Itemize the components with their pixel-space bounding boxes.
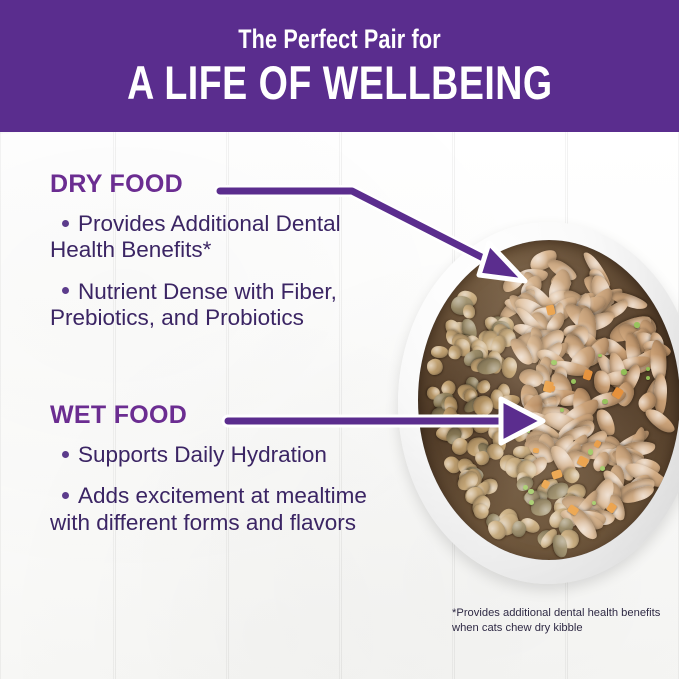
kibble-piece [484, 441, 506, 462]
kibble-piece [490, 321, 513, 347]
wet-food-piece [533, 338, 573, 374]
kibble-piece [471, 343, 493, 368]
wet-food-piece [496, 286, 539, 323]
kibble-piece [469, 493, 494, 519]
pea-bit [600, 466, 605, 471]
kibble-piece [427, 386, 441, 400]
food-layer [418, 240, 679, 560]
kibble-piece [453, 421, 476, 443]
wet-food-piece [560, 491, 605, 522]
bullet-dot [62, 220, 69, 227]
wet-food-piece [599, 481, 623, 512]
wet-food-piece [558, 423, 593, 445]
wet-food-piece [507, 291, 538, 326]
carrot-bit [541, 480, 550, 490]
kibble-piece [461, 387, 478, 405]
kibble-piece [560, 465, 581, 485]
list-item: Provides Additional Dental Health Benefi… [50, 211, 395, 264]
pea-bit [646, 376, 650, 380]
kibble-piece [478, 476, 500, 497]
kibble-piece [449, 331, 473, 354]
kibble-piece [468, 410, 495, 437]
wet-food-piece [569, 293, 607, 317]
kibble-piece [490, 389, 503, 409]
wet-food-piece [535, 389, 580, 407]
wet-food-piece [586, 388, 628, 412]
kibble-piece [490, 316, 506, 333]
wet-food-piece [577, 308, 596, 352]
kibble-piece [466, 436, 491, 458]
wet-food-piece [534, 346, 568, 373]
wet-food-piece [503, 295, 537, 318]
kibble-piece [457, 468, 477, 488]
kibble-piece [551, 501, 572, 524]
wet-food-piece [610, 446, 657, 479]
wet-food-piece [654, 374, 668, 416]
bowl-interior [418, 240, 679, 560]
wet-food-piece [587, 286, 625, 311]
wet-food-piece [612, 443, 636, 483]
kibble-piece [440, 453, 463, 475]
wet-food-piece [642, 405, 678, 438]
kibble-piece [444, 328, 462, 347]
carrot-bit [551, 468, 563, 479]
wet-food-piece [574, 328, 601, 351]
dry-food-bullets: Provides Additional Dental Health Benefi… [50, 211, 395, 331]
wet-food-piece [516, 289, 548, 329]
wet-food-piece [545, 288, 575, 311]
wet-food-piece [594, 407, 618, 438]
wet-food-piece [603, 370, 640, 386]
wet-food-piece [553, 410, 598, 448]
wet-food-piece [532, 304, 567, 324]
wet-food-piece [547, 442, 582, 485]
banner-title: A LIFE OF WELLBEING [127, 58, 552, 107]
kibble-piece [441, 406, 458, 431]
dry-food-heading: DRY FOOD [50, 172, 395, 197]
carrot-bit [546, 304, 556, 315]
kibble-piece [431, 346, 449, 358]
wet-food-piece [517, 367, 545, 390]
kibble-piece [446, 417, 459, 432]
pea-bit [592, 501, 596, 505]
kibble-piece [544, 480, 571, 503]
kibble-piece [439, 379, 458, 399]
kibble-piece [512, 458, 534, 476]
wet-food-piece [522, 325, 545, 343]
wet-food-piece [606, 312, 655, 346]
wet-food-piece [606, 464, 626, 498]
kibble-piece [534, 476, 561, 499]
wet-food-piece [583, 476, 619, 522]
wet-food-piece [589, 273, 615, 317]
wet-food-piece [526, 394, 560, 424]
kibble-piece [494, 325, 519, 350]
kibble-piece [529, 497, 553, 518]
wet-food-piece [567, 488, 601, 529]
kibble-piece [450, 437, 469, 457]
banner-subtitle: The Perfect Pair for [238, 25, 440, 53]
wet-food-piece [556, 395, 603, 434]
wet-food-piece [563, 324, 586, 339]
kibble-piece [515, 470, 532, 489]
wet-food-piece [610, 428, 652, 459]
wet-food-piece [499, 268, 527, 294]
kibble-piece [472, 449, 491, 468]
wet-food-piece [608, 445, 646, 469]
wet-food-piece [537, 356, 555, 381]
kibble-piece [440, 396, 455, 413]
kibble-piece [466, 377, 479, 392]
wet-food-piece [615, 319, 653, 357]
kibble-piece [524, 490, 548, 503]
kibble-piece [449, 322, 469, 337]
wet-food-piece [534, 362, 553, 387]
dry-food-section: DRY FOOD Provides Additional Dental Heal… [50, 172, 395, 346]
wet-food-piece [530, 392, 564, 422]
kibble-piece [518, 515, 542, 536]
wet-food-piece [526, 246, 559, 274]
kibble-piece [495, 316, 515, 338]
wet-food-piece [525, 454, 551, 479]
kibble-piece [489, 333, 508, 356]
kibble-piece [462, 394, 485, 415]
wet-food-piece [592, 370, 611, 395]
wet-food-piece [513, 327, 556, 351]
kibble-piece [463, 464, 485, 483]
wet-food-piece [576, 309, 616, 336]
kibble-piece [463, 484, 485, 506]
wet-food-piece [580, 507, 604, 529]
pea-bit [527, 430, 530, 433]
wet-food-piece [601, 434, 624, 464]
kibble-piece [454, 337, 473, 358]
wet-food-piece [512, 321, 547, 344]
kibble-piece [496, 414, 522, 440]
wet-food-piece [624, 344, 666, 378]
kibble-piece [428, 406, 450, 429]
pea-bit [602, 399, 608, 405]
wet-food-piece [516, 273, 546, 305]
wet-food-piece [537, 434, 555, 462]
kibble-piece [470, 414, 490, 431]
kibble-piece [513, 446, 531, 457]
carrot-bit [593, 440, 602, 449]
wet-food-piece [620, 483, 656, 506]
kibble-piece [455, 455, 478, 479]
wet-food-piece [591, 337, 618, 358]
kibble-piece [561, 491, 581, 514]
kibble-piece [497, 329, 516, 348]
wet-food-piece [517, 268, 548, 283]
kibble-piece [485, 418, 509, 442]
wet-food-piece [518, 390, 555, 430]
wet-food-piece [507, 335, 535, 368]
wet-food-piece [568, 418, 598, 444]
wet-food-piece [648, 331, 666, 363]
kibble-piece [559, 528, 580, 549]
wet-food-piece [521, 269, 544, 302]
kibble-piece [482, 314, 503, 335]
wet-food-piece [637, 320, 654, 353]
wet-food-piece [560, 432, 591, 464]
pea-bit [621, 369, 627, 375]
list-item: Adds excitement at mealtime with differe… [50, 483, 395, 536]
pea-bit [634, 322, 639, 327]
kibble-piece [486, 350, 502, 374]
wet-food-piece [617, 354, 651, 372]
pea-bit [646, 367, 650, 371]
wet-food-piece [581, 335, 614, 370]
wet-food-piece [608, 493, 628, 522]
wet-food-piece [522, 281, 560, 319]
header-banner: The Perfect Pair for A LIFE OF WELLBEING [0, 0, 679, 132]
kibble-piece [564, 481, 588, 504]
kibble-piece [493, 408, 513, 429]
kibble-piece [458, 334, 474, 350]
wet-food-piece [512, 392, 548, 436]
wet-food-bullets: Supports Daily Hydration Adds excitement… [50, 442, 395, 536]
wet-food-piece [609, 289, 649, 312]
kibble-piece [469, 338, 490, 364]
wet-food-piece [607, 350, 630, 395]
carrot-bit [543, 380, 554, 393]
wet-food-piece [531, 326, 568, 360]
wet-food-piece [620, 441, 656, 457]
kibble-piece [454, 469, 481, 494]
kibble-piece [443, 411, 465, 431]
kibble-piece [435, 425, 459, 442]
wet-food-piece [529, 310, 551, 337]
bullet-dot [62, 451, 69, 458]
wet-food-piece [561, 332, 591, 366]
wet-food-piece [580, 271, 619, 311]
kibble-piece [447, 420, 470, 444]
kibble-piece [469, 393, 496, 420]
wet-food-piece [563, 331, 586, 359]
wet-food-piece [641, 346, 662, 371]
wet-food-piece [547, 294, 580, 321]
wet-food-piece [599, 297, 631, 323]
wet-food-piece [561, 286, 597, 320]
kibble-piece [501, 455, 527, 481]
pea-bit [571, 379, 576, 384]
list-item-text: Nutrient Dense with Fiber, Prebiotics, a… [50, 279, 337, 330]
list-item: Supports Daily Hydration [50, 442, 395, 468]
pea-bit [551, 360, 556, 365]
wet-food-piece [632, 314, 659, 341]
wet-food-piece [626, 426, 649, 463]
kibble-piece [553, 496, 577, 515]
wet-food-piece [559, 505, 605, 534]
wet-food-piece [571, 303, 597, 331]
kibble-piece [487, 353, 508, 371]
wet-food-piece [513, 304, 550, 345]
wet-food-piece [581, 249, 613, 290]
kibble-piece [498, 453, 519, 474]
kibble-piece [557, 517, 574, 537]
kibble-piece [475, 378, 493, 396]
wet-food-piece [586, 508, 616, 527]
kibble-piece [498, 394, 520, 408]
wet-food-piece [624, 471, 655, 500]
kibble-piece [463, 484, 487, 507]
kibble-piece [482, 330, 498, 350]
pea-bit [529, 500, 535, 506]
kibble-piece [464, 333, 483, 351]
kibble-piece [484, 512, 502, 531]
wet-food-piece [571, 509, 606, 529]
page-root: The Perfect Pair for A LIFE OF WELLBEING… [0, 0, 679, 679]
kibble-piece [455, 381, 481, 406]
bullet-dot [62, 287, 69, 294]
kibble-piece [495, 505, 522, 533]
carrot-bit [533, 447, 540, 453]
wet-food-piece [614, 475, 657, 504]
kibble-piece [475, 355, 502, 376]
wet-food-piece [623, 332, 643, 372]
kibble-piece [494, 510, 524, 540]
kibble-piece [461, 347, 486, 369]
bowl-rim [398, 222, 679, 584]
wet-food-piece [577, 441, 617, 460]
carrot-bit [606, 502, 617, 514]
wet-food-piece [559, 391, 589, 409]
wet-food-piece [572, 292, 595, 331]
wet-food-piece [543, 310, 569, 338]
wet-food-piece [561, 299, 596, 336]
kibble-piece [512, 425, 531, 444]
wet-food-piece [572, 387, 592, 420]
wet-food-piece [583, 271, 610, 295]
wet-food-piece [533, 406, 570, 421]
kibble-piece [509, 408, 527, 430]
wet-food-piece [547, 369, 576, 403]
kibble-piece [509, 407, 532, 431]
kibble-piece [448, 345, 461, 359]
wet-food-piece [530, 307, 571, 324]
kibble-piece [472, 502, 490, 521]
kibble-piece [461, 466, 485, 493]
wet-food-piece [649, 339, 667, 383]
kibble-piece [537, 526, 559, 550]
wet-food-piece [524, 433, 567, 456]
wet-food-piece [529, 419, 562, 444]
wet-food-piece [590, 450, 613, 475]
kibble-piece [490, 320, 512, 340]
kibble-piece [511, 521, 526, 538]
pea-bit [528, 489, 534, 495]
list-item-text: Supports Daily Hydration [78, 442, 327, 467]
kibble-piece [463, 462, 480, 481]
wet-food-piece [604, 443, 636, 469]
wet-food-piece [549, 359, 591, 379]
wet-food-piece [551, 365, 569, 392]
wet-food-piece [570, 443, 608, 457]
wet-food-piece [593, 350, 625, 392]
wet-food-piece [558, 323, 594, 359]
wet-food-piece [568, 289, 599, 316]
wet-food-piece [577, 285, 617, 326]
kibble-piece [451, 295, 474, 316]
kibble-piece [470, 357, 490, 374]
wet-food-piece [622, 458, 668, 491]
kibble-piece [519, 452, 541, 476]
wet-food-piece [633, 456, 662, 479]
kibble-piece [522, 488, 543, 508]
carrot-bit [612, 387, 624, 400]
kibble-piece [442, 317, 465, 343]
wet-food-section: WET FOOD Supports Daily Hydration Adds e… [50, 403, 395, 551]
kibble-piece [491, 430, 507, 452]
kibble-piece [475, 440, 495, 461]
wet-food-piece [635, 389, 660, 415]
footnote-text: *Provides additional dental health benef… [452, 606, 670, 636]
wet-food-piece [597, 448, 626, 463]
kibble-piece [494, 382, 511, 404]
wet-food-piece [547, 301, 567, 338]
wet-food-piece [564, 448, 592, 470]
kibble-piece [444, 425, 464, 447]
kibble-piece [462, 304, 475, 319]
kibble-piece [514, 473, 536, 493]
carrot-bit [583, 370, 594, 382]
wet-food-piece [523, 428, 553, 453]
wet-food-piece [549, 272, 573, 293]
wet-food-piece [528, 325, 544, 353]
kibble-piece [501, 356, 519, 378]
kibble-piece [443, 419, 465, 442]
kibble-piece [476, 327, 497, 348]
wet-food-piece [544, 255, 578, 284]
wet-food-piece [600, 467, 631, 504]
wet-food-piece [641, 338, 672, 361]
kibble-piece [498, 409, 521, 433]
carrot-bit [577, 455, 590, 467]
wet-food-piece [512, 293, 559, 332]
list-item: Nutrient Dense with Fiber, Prebiotics, a… [50, 279, 395, 332]
bullet-dot [62, 492, 69, 499]
pea-bit [560, 408, 564, 412]
wet-food-piece [521, 409, 554, 434]
wet-food-piece [632, 330, 657, 356]
kibble-piece [472, 479, 494, 501]
kibble-piece [514, 457, 540, 483]
kibble-piece [484, 517, 509, 542]
carrot-bit [547, 384, 556, 392]
wet-food-piece [525, 334, 544, 364]
wet-food-piece [547, 432, 578, 460]
wet-food-piece [613, 381, 637, 409]
kibble-piece [424, 356, 446, 378]
wet-food-piece [640, 373, 670, 411]
wet-food-piece [565, 343, 601, 379]
pea-bit [598, 354, 602, 358]
kibble-piece [551, 533, 568, 558]
wet-food-piece [627, 326, 654, 358]
wet-food-piece [545, 266, 575, 307]
kibble-piece [431, 390, 456, 410]
pea-bit [523, 485, 528, 490]
wet-food-piece [599, 334, 633, 365]
wet-food-piece [518, 383, 541, 414]
wet-food-piece [585, 266, 610, 297]
wet-food-piece [555, 441, 585, 474]
list-item-text: Provides Additional Dental Health Benefi… [50, 211, 341, 262]
carrot-bit [566, 504, 579, 516]
wet-food-heading: WET FOOD [50, 403, 395, 428]
list-item-text: Adds excitement at mealtime with differe… [50, 483, 367, 534]
